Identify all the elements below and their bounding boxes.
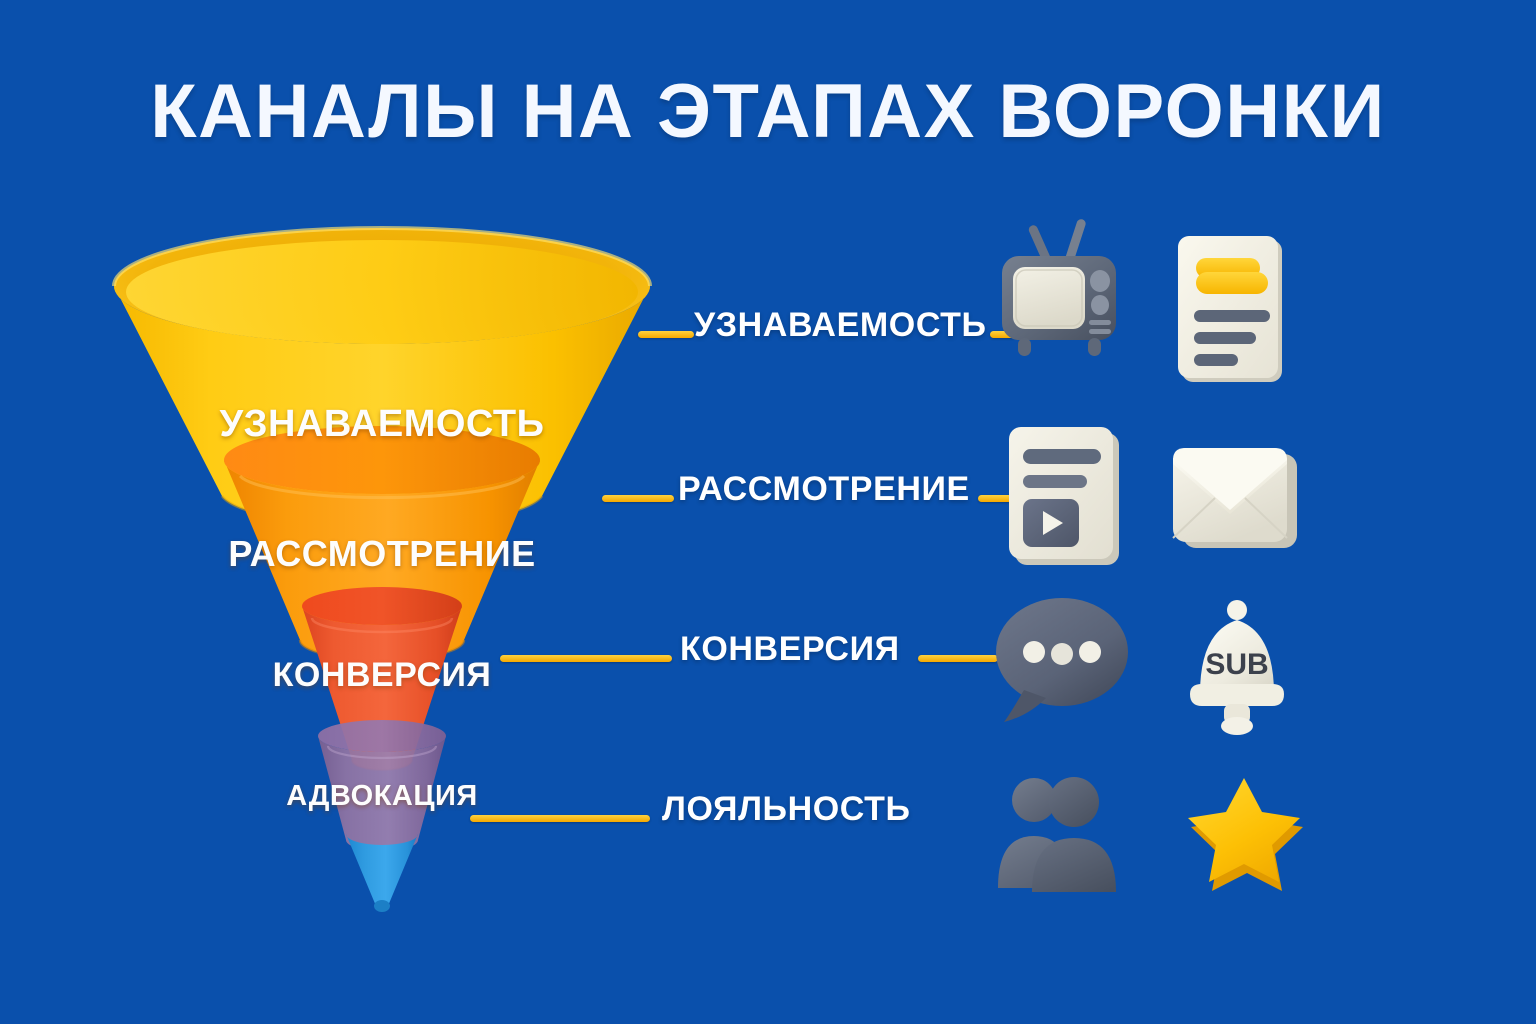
funnel-tip — [346, 834, 418, 912]
chat-bubble-icon — [994, 594, 1132, 726]
funnel-band-label-awareness: УЗНАВАЕМОСТЬ — [112, 403, 652, 446]
stage-label-conversion: КОНВЕРСИЯ — [680, 630, 900, 669]
connector-line-consideration — [602, 495, 674, 502]
star-icon — [1182, 772, 1306, 894]
email-icon — [1171, 448, 1299, 554]
bell-badge-text: SUB — [1205, 648, 1268, 681]
tv-icon — [996, 210, 1122, 360]
users-icon — [994, 770, 1130, 896]
stage-label-consideration: РАССМОТРЕНИЕ — [678, 470, 970, 509]
funnel-band-label-advocacy: АДВОКАЦИЯ — [112, 780, 652, 813]
connector-line-conversion-icons — [918, 655, 998, 662]
connector-line-conversion — [500, 655, 672, 662]
video-post-icon — [1007, 427, 1127, 571]
connector-line-awareness — [638, 331, 694, 338]
subscribe-bell-icon: SUB — [1182, 598, 1292, 738]
article-icon — [1176, 236, 1288, 388]
connector-line-loyalty — [470, 815, 650, 822]
stage-label-loyalty: ЛОЯЛЬНОСТЬ — [662, 790, 911, 829]
infographic-canvas: КАНАЛЫ НА ЭТАПАХ ВОРОНКИ — [0, 0, 1536, 1024]
funnel-band-label-consideration: РАССМОТРЕНИЕ — [112, 533, 652, 575]
stage-label-awareness: УЗНАВАЕМОСТЬ — [694, 306, 987, 345]
page-title: КАНАЛЫ НА ЭТАПАХ ВОРОНКИ — [0, 74, 1536, 150]
